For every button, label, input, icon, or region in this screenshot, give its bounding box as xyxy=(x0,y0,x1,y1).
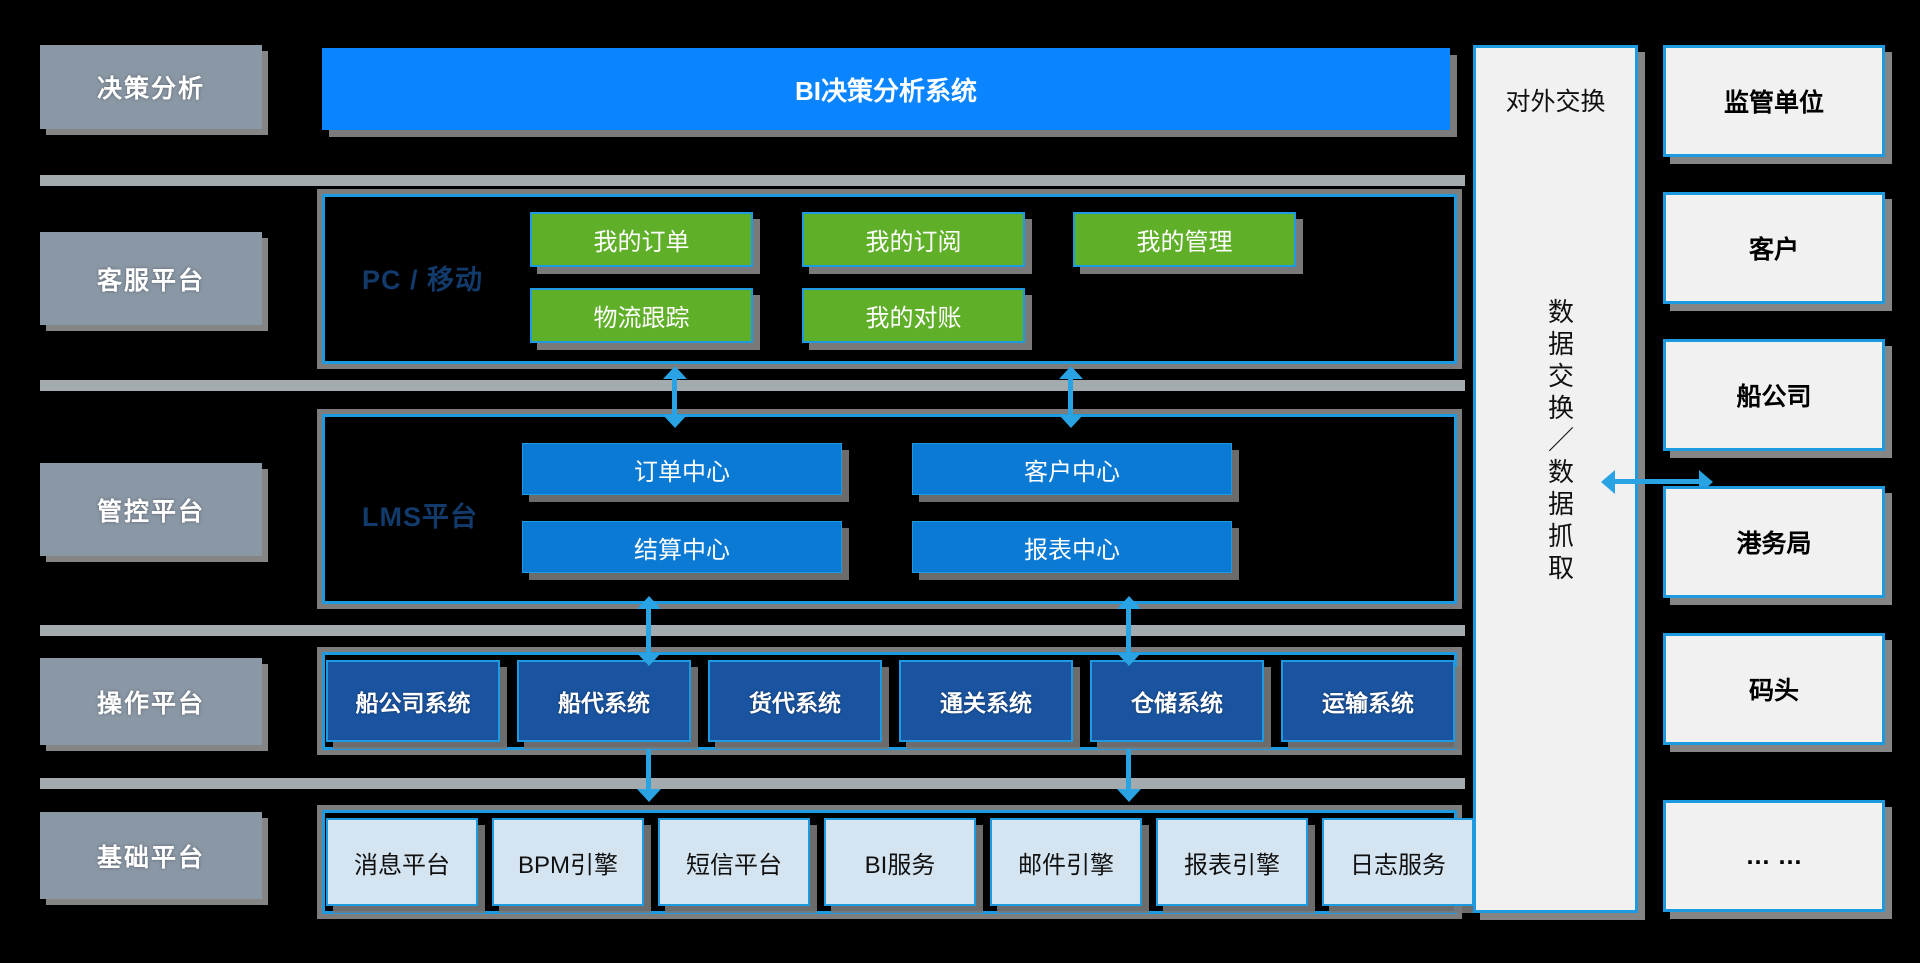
divider-decision-service xyxy=(40,175,1465,186)
control-item-report-center[interactable]: 报表中心 xyxy=(912,521,1232,573)
external-entity-terminal[interactable]: 码头 xyxy=(1663,633,1885,745)
base-item-report-engine-label: 报表引擎 xyxy=(1184,845,1280,880)
divider-control-operation xyxy=(40,625,1465,636)
bi-decision-banner[interactable]: BI决策分析系统 xyxy=(322,48,1450,130)
service-item-my-order[interactable]: 我的订单 xyxy=(530,212,753,267)
connector-control-operation-right xyxy=(1117,596,1141,666)
base-item-bi-service[interactable]: BI服务 xyxy=(824,818,976,906)
control-item-customer-center-label: 客户中心 xyxy=(1024,452,1120,487)
control-item-settlement-center-label: 结算中心 xyxy=(634,530,730,565)
operation-item-customs-clearance-system-label: 通关系统 xyxy=(940,684,1032,718)
base-item-log-service[interactable]: 日志服务 xyxy=(1322,818,1474,906)
layer-label-base-text: 基础平台 xyxy=(97,838,205,874)
divider-service-control xyxy=(40,380,1465,391)
external-entity-more-label: … … xyxy=(1746,842,1803,871)
service-item-my-subscription-label: 我的订阅 xyxy=(866,222,962,257)
connector-control-operation-left xyxy=(637,596,661,666)
control-item-report-center-label: 报表中心 xyxy=(1024,530,1120,565)
layer-label-base: 基础平台 xyxy=(40,812,262,899)
connector-service-control-right xyxy=(1059,366,1083,428)
operation-item-freight-forwarder-system[interactable]: 货代系统 xyxy=(708,660,882,742)
service-item-my-subscription[interactable]: 我的订阅 xyxy=(802,212,1025,267)
divider-operation-base xyxy=(40,778,1465,789)
service-item-logistics-tracking-label: 物流跟踪 xyxy=(594,298,690,333)
layer-label-control: 管控平台 xyxy=(40,463,262,556)
base-item-message-platform-label: 消息平台 xyxy=(354,845,450,880)
control-item-settlement-center[interactable]: 结算中心 xyxy=(522,521,842,573)
connector-operation-base-left xyxy=(637,740,661,802)
connector-service-control-left xyxy=(663,366,687,428)
service-item-my-management[interactable]: 我的管理 xyxy=(1073,212,1296,267)
operation-item-warehouse-system-label: 仓储系统 xyxy=(1131,684,1223,718)
base-item-sms-platform-label: 短信平台 xyxy=(686,845,782,880)
service-item-my-reconciliation[interactable]: 我的对账 xyxy=(802,288,1025,343)
service-item-my-order-label: 我的订单 xyxy=(594,222,690,257)
base-item-bpm-engine-label: BPM引擎 xyxy=(518,845,618,880)
operation-item-shipping-company-system[interactable]: 船公司系统 xyxy=(326,660,500,742)
base-item-mail-engine[interactable]: 邮件引擎 xyxy=(990,818,1142,906)
external-entity-customer[interactable]: 客户 xyxy=(1663,192,1885,304)
base-item-message-platform[interactable]: 消息平台 xyxy=(326,818,478,906)
operation-item-shipping-company-system-label: 船公司系统 xyxy=(356,684,471,718)
base-item-bi-service-label: BI服务 xyxy=(865,845,936,880)
operation-item-transport-system[interactable]: 运输系统 xyxy=(1281,660,1455,742)
operation-item-shipping-agency-system[interactable]: 船代系统 xyxy=(517,660,691,742)
layer-label-decision-text: 决策分析 xyxy=(97,69,205,105)
external-exchange-vertical-label: 数据交换／数据抓取 xyxy=(1539,298,1573,586)
operation-item-shipping-agency-system-label: 船代系统 xyxy=(558,684,650,718)
operation-item-customs-clearance-system[interactable]: 通关系统 xyxy=(899,660,1073,742)
layer-label-control-text: 管控平台 xyxy=(97,492,205,528)
external-entity-shipping-company[interactable]: 船公司 xyxy=(1663,339,1885,451)
connector-operation-base-right xyxy=(1117,740,1141,802)
operation-item-warehouse-system[interactable]: 仓储系统 xyxy=(1090,660,1264,742)
external-entity-port-authority-label: 港务局 xyxy=(1736,524,1811,560)
service-item-logistics-tracking[interactable]: 物流跟踪 xyxy=(530,288,753,343)
external-entity-shipping-company-label: 船公司 xyxy=(1736,377,1811,413)
layer-label-operation-text: 操作平台 xyxy=(97,684,205,720)
base-item-mail-engine-label: 邮件引擎 xyxy=(1018,845,1114,880)
layer-label-operation: 操作平台 xyxy=(40,658,262,745)
external-entity-port-authority[interactable]: 港务局 xyxy=(1663,486,1885,598)
bi-decision-banner-label: BI决策分析系统 xyxy=(795,71,977,108)
external-entity-regulator[interactable]: 监管单位 xyxy=(1663,45,1885,157)
base-item-log-service-label: 日志服务 xyxy=(1350,845,1446,880)
external-entity-more[interactable]: … … xyxy=(1663,800,1885,912)
service-item-my-reconciliation-label: 我的对账 xyxy=(866,298,962,333)
control-item-customer-center[interactable]: 客户中心 xyxy=(912,443,1232,495)
base-item-report-engine[interactable]: 报表引擎 xyxy=(1156,818,1308,906)
operation-item-transport-system-label: 运输系统 xyxy=(1322,684,1414,718)
external-entity-customer-label: 客户 xyxy=(1749,230,1799,266)
control-item-order-center[interactable]: 订单中心 xyxy=(522,443,842,495)
layer-label-service: 客服平台 xyxy=(40,232,262,325)
control-item-order-center-label: 订单中心 xyxy=(634,452,730,487)
layer-label-decision: 决策分析 xyxy=(40,45,262,129)
layer-label-service-text: 客服平台 xyxy=(97,261,205,297)
base-item-bpm-engine[interactable]: BPM引擎 xyxy=(492,818,644,906)
operation-item-freight-forwarder-system-label: 货代系统 xyxy=(749,684,841,718)
base-item-sms-platform[interactable]: 短信平台 xyxy=(658,818,810,906)
architecture-diagram-canvas: 决策分析 客服平台 管控平台 操作平台 基础平台 BI决策分析系统 PC / 移… xyxy=(0,0,1920,963)
external-exchange-top-label: 对外交换 xyxy=(1476,82,1635,118)
service-item-my-management-label: 我的管理 xyxy=(1137,222,1233,257)
external-entity-regulator-label: 监管单位 xyxy=(1724,83,1824,119)
external-entity-terminal-label: 码头 xyxy=(1749,671,1799,707)
